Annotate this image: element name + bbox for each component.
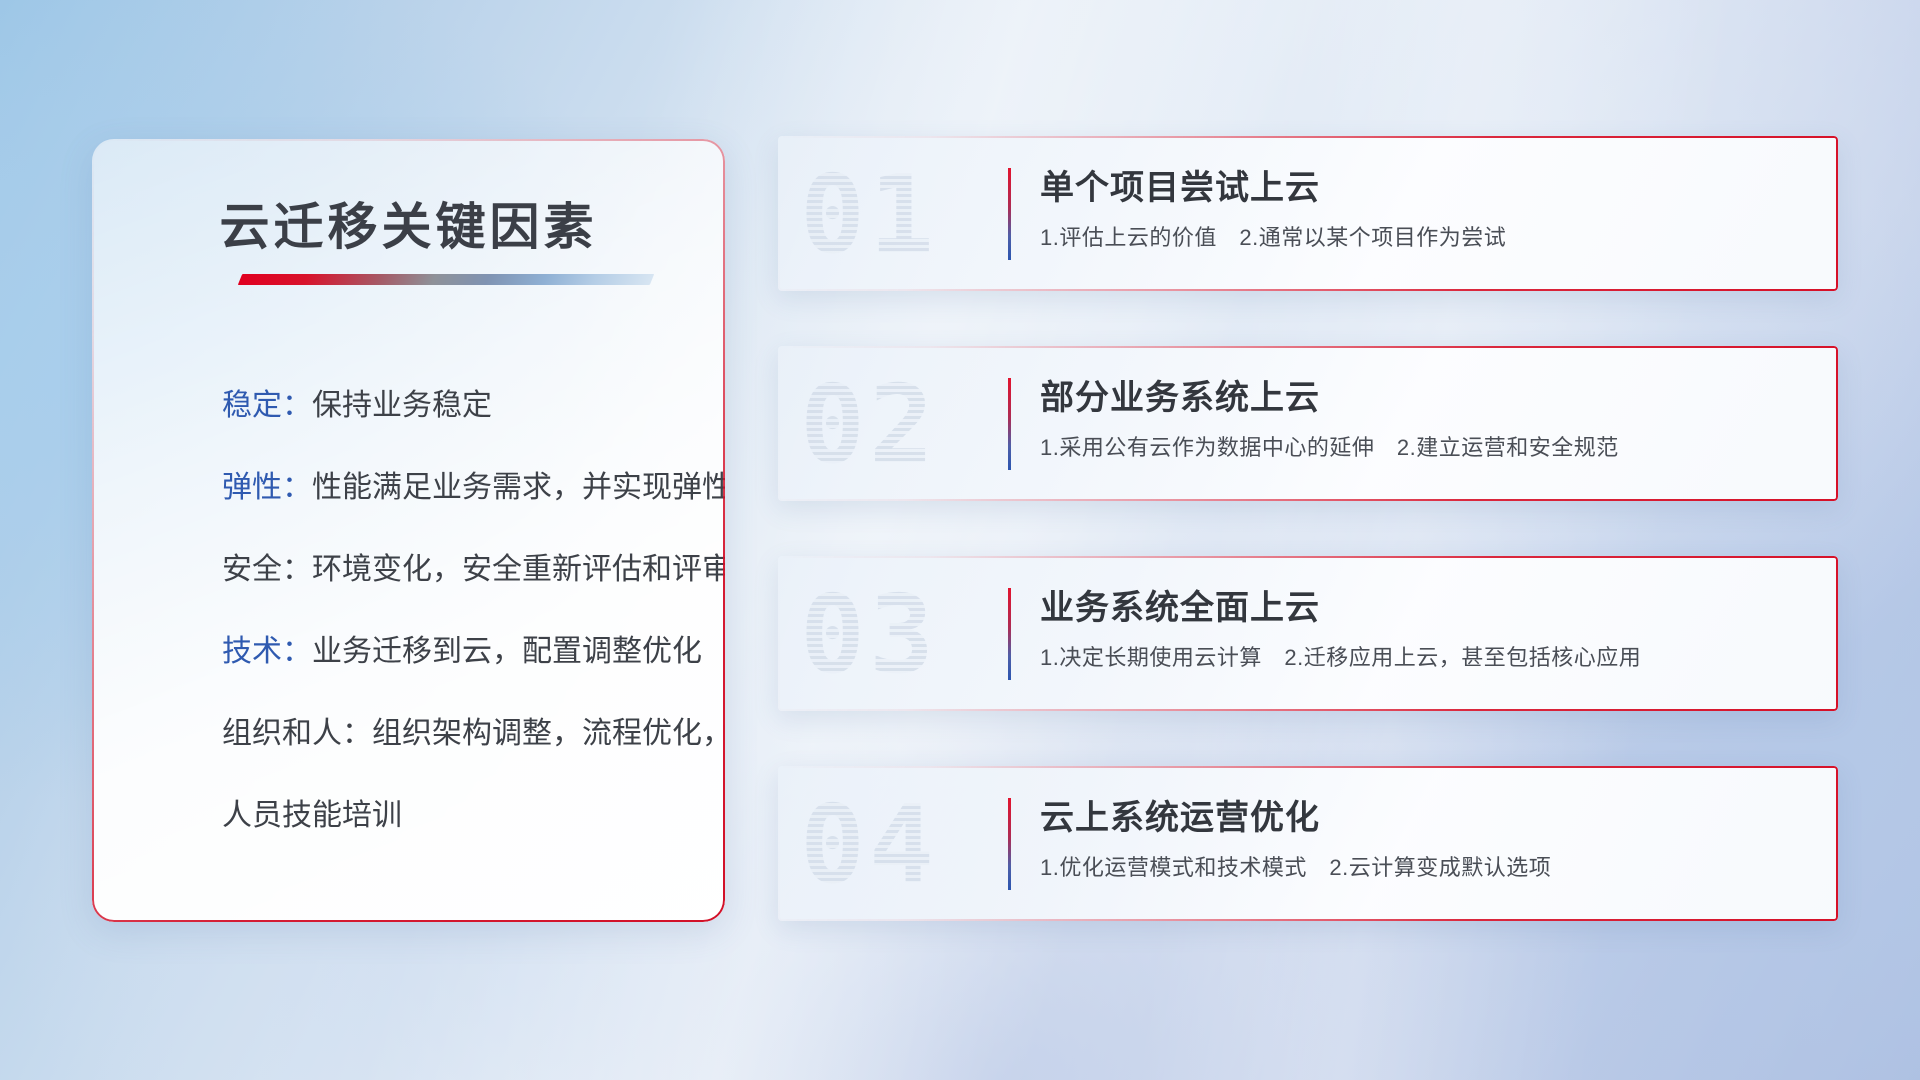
list-item-continuation: 人员技能培训 bbox=[222, 797, 685, 835]
list-item: 安全：环境变化，安全重新评估和评审 bbox=[222, 551, 685, 589]
list-item-value: 人员技能培训 bbox=[222, 799, 402, 832]
key-factors-panel: 云迁移关键因素 稳定：保持业务稳定 弹性：性能满足业务需求，并实现弹性 安全：环… bbox=[92, 139, 725, 922]
list-item-value: 业务迁移到云，配置调整优化 bbox=[312, 635, 702, 668]
list-item: 弹性：性能满足业务需求，并实现弹性 bbox=[222, 469, 685, 507]
key-factors-panel-inner: 云迁移关键因素 稳定：保持业务稳定 弹性：性能满足业务需求，并实现弹性 安全：环… bbox=[92, 139, 725, 922]
stage-accent-bar bbox=[1008, 168, 1011, 260]
list-item-label: 组织和人： bbox=[222, 717, 372, 750]
list-item-label: 稳定： bbox=[222, 389, 312, 422]
list-item: 稳定：保持业务稳定 bbox=[222, 387, 685, 425]
stage-number-watermark: 01 bbox=[800, 146, 990, 286]
list-item-value: 保持业务稳定 bbox=[312, 389, 492, 422]
list-item: 技术：业务迁移到云，配置调整优化 bbox=[222, 633, 685, 671]
stage-accent-bar bbox=[1008, 588, 1011, 680]
key-factors-list: 稳定：保持业务稳定 弹性：性能满足业务需求，并实现弹性 安全：环境变化，安全重新… bbox=[222, 387, 685, 879]
list-item-value: 环境变化，安全重新评估和评审 bbox=[312, 553, 725, 586]
stage-card-title: 云上系统运营优化 bbox=[1040, 790, 1320, 839]
list-item: 组织和人：组织架构调整，流程优化， bbox=[222, 715, 685, 753]
stage-number-watermark: 03 bbox=[800, 566, 990, 706]
title-underline-gradient bbox=[238, 274, 654, 285]
stage-card-inner: 04 云上系统运营优化 1.优化运营模式和技术模式 2.云计算变成默认选项 bbox=[778, 766, 1838, 921]
list-item-label: 技术： bbox=[222, 635, 312, 668]
list-item-value: 组织架构调整，流程优化， bbox=[372, 717, 725, 750]
stage-card-title: 部分业务系统上云 bbox=[1040, 370, 1320, 419]
stage-card[interactable]: 04 云上系统运营优化 1.优化运营模式和技术模式 2.云计算变成默认选项 bbox=[778, 766, 1838, 921]
stage-card[interactable]: 01 单个项目尝试上云 1.评估上云的价值 2.通常以某个项目作为尝试 bbox=[778, 136, 1838, 291]
stage-number-watermark: 04 bbox=[800, 776, 990, 916]
stage-card-description: 1.决定长期使用云计算 2.迁移应用上云，甚至包括核心应用 bbox=[1040, 640, 1641, 672]
stage-accent-bar bbox=[1008, 378, 1011, 470]
stage-card-title: 单个项目尝试上云 bbox=[1040, 160, 1320, 209]
list-item-label: 弹性： bbox=[222, 471, 312, 504]
page-title: 云迁移关键因素 bbox=[92, 187, 725, 259]
stage-accent-bar bbox=[1008, 798, 1011, 890]
stage-cards: 01 单个项目尝试上云 1.评估上云的价值 2.通常以某个项目作为尝试 02 部… bbox=[778, 136, 1838, 976]
stage-card-inner: 03 业务系统全面上云 1.决定长期使用云计算 2.迁移应用上云，甚至包括核心应… bbox=[778, 556, 1838, 711]
stage-card-description: 1.评估上云的价值 2.通常以某个项目作为尝试 bbox=[1040, 220, 1506, 252]
stage-card-title: 业务系统全面上云 bbox=[1040, 580, 1320, 629]
list-item-label: 安全： bbox=[222, 553, 312, 586]
list-item-value: 性能满足业务需求，并实现弹性 bbox=[312, 471, 725, 504]
stage-number-watermark: 02 bbox=[800, 356, 990, 496]
stage-card-inner: 01 单个项目尝试上云 1.评估上云的价值 2.通常以某个项目作为尝试 bbox=[778, 136, 1838, 291]
stage-card[interactable]: 03 业务系统全面上云 1.决定长期使用云计算 2.迁移应用上云，甚至包括核心应… bbox=[778, 556, 1838, 711]
stage-card[interactable]: 02 部分业务系统上云 1.采用公有云作为数据中心的延伸 2.建立运营和安全规范 bbox=[778, 346, 1838, 501]
stage-card-description: 1.优化运营模式和技术模式 2.云计算变成默认选项 bbox=[1040, 850, 1551, 882]
stage-card-description: 1.采用公有云作为数据中心的延伸 2.建立运营和安全规范 bbox=[1040, 430, 1619, 462]
stage-card-inner: 02 部分业务系统上云 1.采用公有云作为数据中心的延伸 2.建立运营和安全规范 bbox=[778, 346, 1838, 501]
